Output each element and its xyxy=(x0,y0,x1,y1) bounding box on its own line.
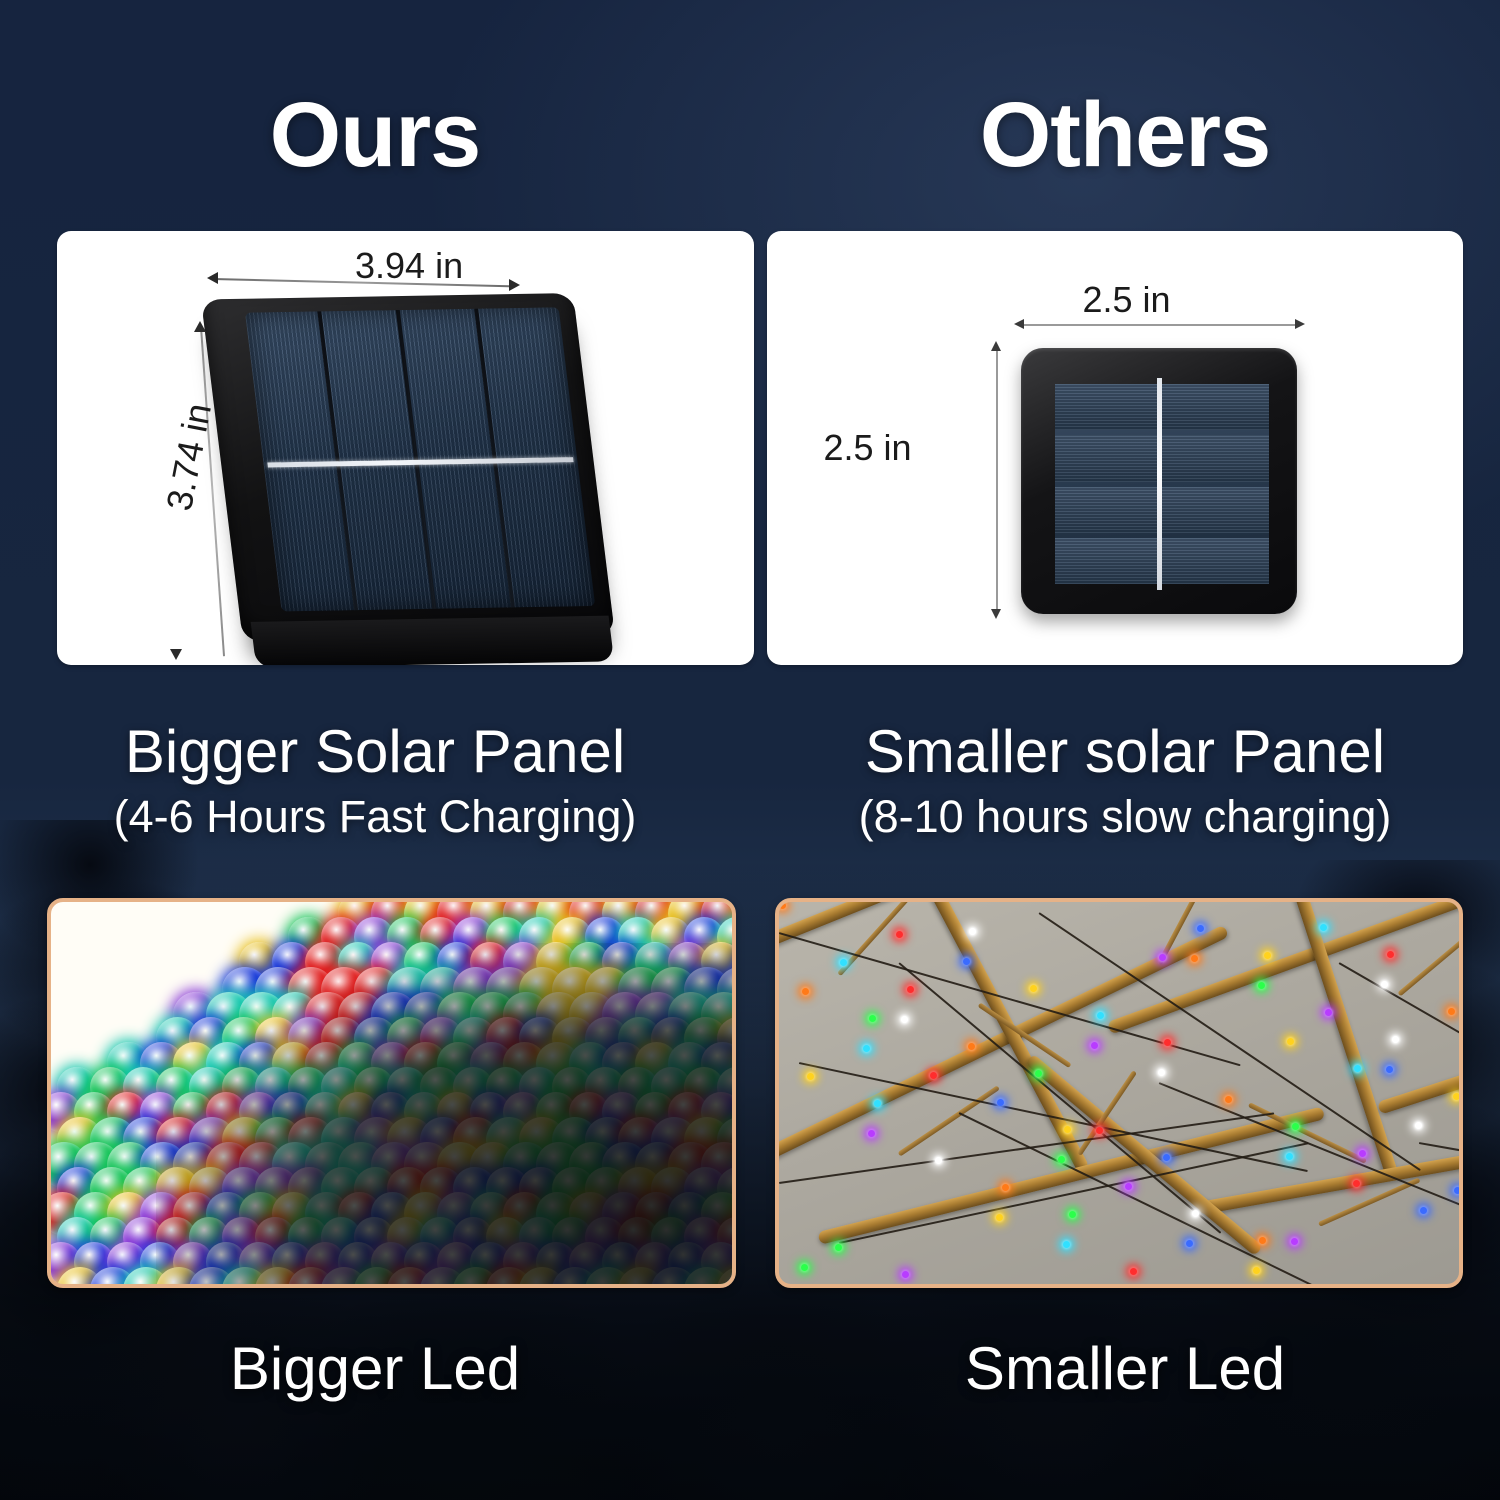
led-point xyxy=(907,986,914,993)
solar-panel-card-ours: 3.94 in 3.74 in xyxy=(57,231,754,665)
led-point xyxy=(1258,982,1265,989)
arrow-down-icon xyxy=(991,609,1001,619)
led-point xyxy=(1253,1267,1260,1274)
led-point xyxy=(1035,1070,1042,1077)
led-bulb xyxy=(734,1142,736,1188)
led-point xyxy=(896,931,903,938)
solar-panel-card-others: 2.5 in 2.5 in xyxy=(767,231,1464,665)
led-point xyxy=(807,1073,814,1080)
header-others: Others xyxy=(750,70,1500,200)
led-point xyxy=(996,1214,1003,1221)
arrow-right-icon xyxy=(509,279,520,291)
comparison-headers: Ours Others xyxy=(0,70,1500,200)
solar-panel-card-row: 3.94 in 3.74 in 2.5 in 2.5 in xyxy=(57,231,1463,665)
led-point xyxy=(1091,1042,1098,1049)
led-point xyxy=(1130,1268,1137,1275)
led-photo-ours xyxy=(47,898,736,1288)
dimension-height-label-others: 2.5 in xyxy=(824,427,912,469)
led-point xyxy=(1392,1036,1399,1043)
led-point xyxy=(935,1157,942,1164)
led-point xyxy=(969,928,976,935)
arrow-right-icon xyxy=(1295,319,1305,329)
arrow-up-icon xyxy=(194,321,206,332)
led-point xyxy=(1454,1187,1461,1194)
led-wire xyxy=(1418,1142,1463,1217)
solar-panel-image-ours xyxy=(201,293,615,642)
dimension-width-label-ours: 3.94 in xyxy=(355,245,463,287)
dimension-width-label-others: 2.5 in xyxy=(1083,279,1171,321)
dimension-line-height-others xyxy=(996,349,998,611)
led-point xyxy=(1063,1241,1070,1248)
led-bulb xyxy=(734,1242,736,1282)
arrow-left-icon xyxy=(207,272,218,284)
led-point xyxy=(1197,925,1204,932)
led-point xyxy=(963,958,970,965)
tree-twig xyxy=(1458,1202,1463,1244)
branch-scene-others xyxy=(779,902,1460,1284)
led-point xyxy=(869,1015,876,1022)
led-point xyxy=(835,1244,842,1251)
led-bulb xyxy=(734,898,736,935)
led-point xyxy=(1264,952,1271,959)
led-point xyxy=(1192,1210,1199,1217)
led-bulb xyxy=(734,1042,736,1085)
led-point xyxy=(1191,955,1198,962)
tree-twig xyxy=(897,1085,999,1156)
led-bulb xyxy=(734,1092,736,1132)
led-point xyxy=(1164,1039,1171,1046)
led-point xyxy=(997,1099,1004,1106)
led-point xyxy=(868,1130,875,1137)
led-point xyxy=(1259,1237,1266,1244)
led-point xyxy=(840,959,847,966)
solar-panel-image-others xyxy=(1021,348,1297,614)
led-point xyxy=(863,1045,870,1052)
led-point xyxy=(1381,981,1388,988)
caption-ours-led: Bigger Led xyxy=(0,1334,750,1403)
led-point xyxy=(801,1264,808,1271)
arrow-up-icon xyxy=(991,341,1001,351)
led-point xyxy=(1325,1009,1332,1016)
led-cluster-shadow xyxy=(156,943,735,1288)
led-point xyxy=(1448,1008,1455,1015)
caption-ours-solar: Bigger Solar Panel (4-6 Hours Fast Charg… xyxy=(0,716,750,846)
led-captions: Bigger Led Smaller Led xyxy=(0,1334,1500,1403)
led-point xyxy=(1058,1156,1065,1163)
led-point xyxy=(1287,1038,1294,1045)
led-point xyxy=(1320,924,1327,931)
tree-branch xyxy=(1197,1136,1463,1215)
led-point xyxy=(1158,1069,1165,1076)
caption-title-ours-solar: Bigger Solar Panel xyxy=(0,716,750,788)
led-point xyxy=(902,1271,909,1278)
led-photo-others xyxy=(775,898,1464,1288)
led-point xyxy=(1292,1123,1299,1130)
tree-branch xyxy=(775,898,1187,955)
led-point xyxy=(1096,1127,1103,1134)
led-point xyxy=(1420,1207,1427,1214)
arrow-left-icon xyxy=(1014,319,1024,329)
arrow-down-icon xyxy=(170,649,182,660)
caption-subtitle-others-solar: (8-10 hours slow charging) xyxy=(750,788,1500,846)
led-point xyxy=(1069,1211,1076,1218)
tree-branch xyxy=(817,1106,1325,1244)
led-point xyxy=(1225,1096,1232,1103)
led-point xyxy=(930,1072,937,1079)
led-point xyxy=(1291,1238,1298,1245)
led-point xyxy=(968,1043,975,1050)
led-point xyxy=(1030,985,1037,992)
header-ours: Ours xyxy=(0,70,750,200)
led-bulb xyxy=(734,1192,736,1235)
led-point xyxy=(1159,954,1166,961)
caption-others-led: Smaller Led xyxy=(750,1334,1500,1403)
led-point xyxy=(1354,1065,1361,1072)
tree-twig xyxy=(1397,928,1463,996)
led-point xyxy=(1125,1183,1132,1190)
led-bulb xyxy=(734,942,736,982)
led-point xyxy=(1064,1126,1071,1133)
led-point xyxy=(1163,1154,1170,1161)
led-point xyxy=(802,988,809,995)
led-point xyxy=(901,1016,908,1023)
solar-panel-captions: Bigger Solar Panel (4-6 Hours Fast Charg… xyxy=(0,716,1500,846)
led-bulb xyxy=(734,992,736,1038)
led-point xyxy=(1387,951,1394,958)
led-point xyxy=(1186,1240,1193,1247)
led-point xyxy=(1286,1153,1293,1160)
led-point xyxy=(779,902,786,909)
led-point xyxy=(1359,1150,1366,1157)
led-point xyxy=(1453,1093,1460,1100)
led-point xyxy=(1353,1180,1360,1187)
led-point xyxy=(1002,1184,1009,1191)
caption-subtitle-ours-solar: (4-6 Hours Fast Charging) xyxy=(0,788,750,846)
led-point xyxy=(874,1100,881,1107)
led-point xyxy=(1415,1122,1422,1129)
led-point xyxy=(1386,1066,1393,1073)
led-photo-row xyxy=(47,898,1463,1288)
caption-title-others-solar: Smaller solar Panel xyxy=(750,716,1500,788)
caption-others-solar: Smaller solar Panel (8-10 hours slow cha… xyxy=(750,716,1500,846)
led-point xyxy=(1097,1012,1104,1019)
dimension-line-width-others xyxy=(1020,324,1298,326)
